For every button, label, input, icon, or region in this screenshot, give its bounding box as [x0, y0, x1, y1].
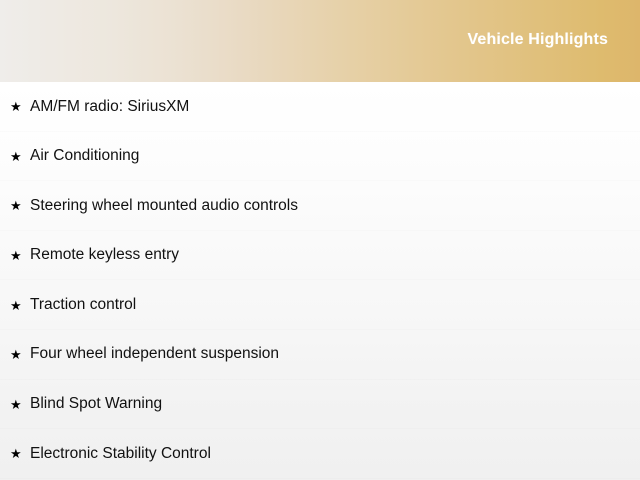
header-banner: Vehicle Highlights — [0, 0, 640, 82]
star-icon: ★ — [10, 199, 28, 212]
list-item-label: Four wheel independent suspension — [30, 345, 640, 364]
list-item-label: AM/FM radio: SiriusXM — [30, 98, 640, 117]
list-item-label: Traction control — [30, 296, 640, 315]
vehicle-highlights-panel: Vehicle Highlights ★ AM/FM radio: Sirius… — [0, 0, 640, 480]
star-icon: ★ — [10, 299, 28, 312]
list-item: ★ Remote keyless entry — [0, 231, 640, 281]
star-icon: ★ — [10, 348, 28, 361]
star-icon: ★ — [10, 249, 28, 262]
star-icon: ★ — [10, 398, 28, 411]
list-item-label: Electronic Stability Control — [30, 445, 640, 464]
vehicle-highlights-list: ★ AM/FM radio: SiriusXM ★ Air Conditioni… — [0, 82, 640, 480]
list-item: ★ AM/FM radio: SiriusXM — [0, 82, 640, 132]
list-item-label: Steering wheel mounted audio controls — [30, 197, 640, 216]
list-item: ★ Air Conditioning — [0, 132, 640, 182]
list-item: ★ Four wheel independent suspension — [0, 330, 640, 380]
list-item: ★ Electronic Stability Control — [0, 429, 640, 479]
page-title: Vehicle Highlights — [467, 32, 608, 50]
list-item: ★ Blind Spot Warning — [0, 380, 640, 430]
list-item: ★ Traction control — [0, 280, 640, 330]
star-icon: ★ — [10, 447, 28, 460]
list-item-label: Blind Spot Warning — [30, 395, 640, 414]
star-icon: ★ — [10, 150, 28, 163]
list-item-label: Air Conditioning — [30, 147, 640, 166]
list-item-label: Remote keyless entry — [30, 246, 640, 265]
list-item: ★ Steering wheel mounted audio controls — [0, 181, 640, 231]
star-icon: ★ — [10, 100, 28, 113]
